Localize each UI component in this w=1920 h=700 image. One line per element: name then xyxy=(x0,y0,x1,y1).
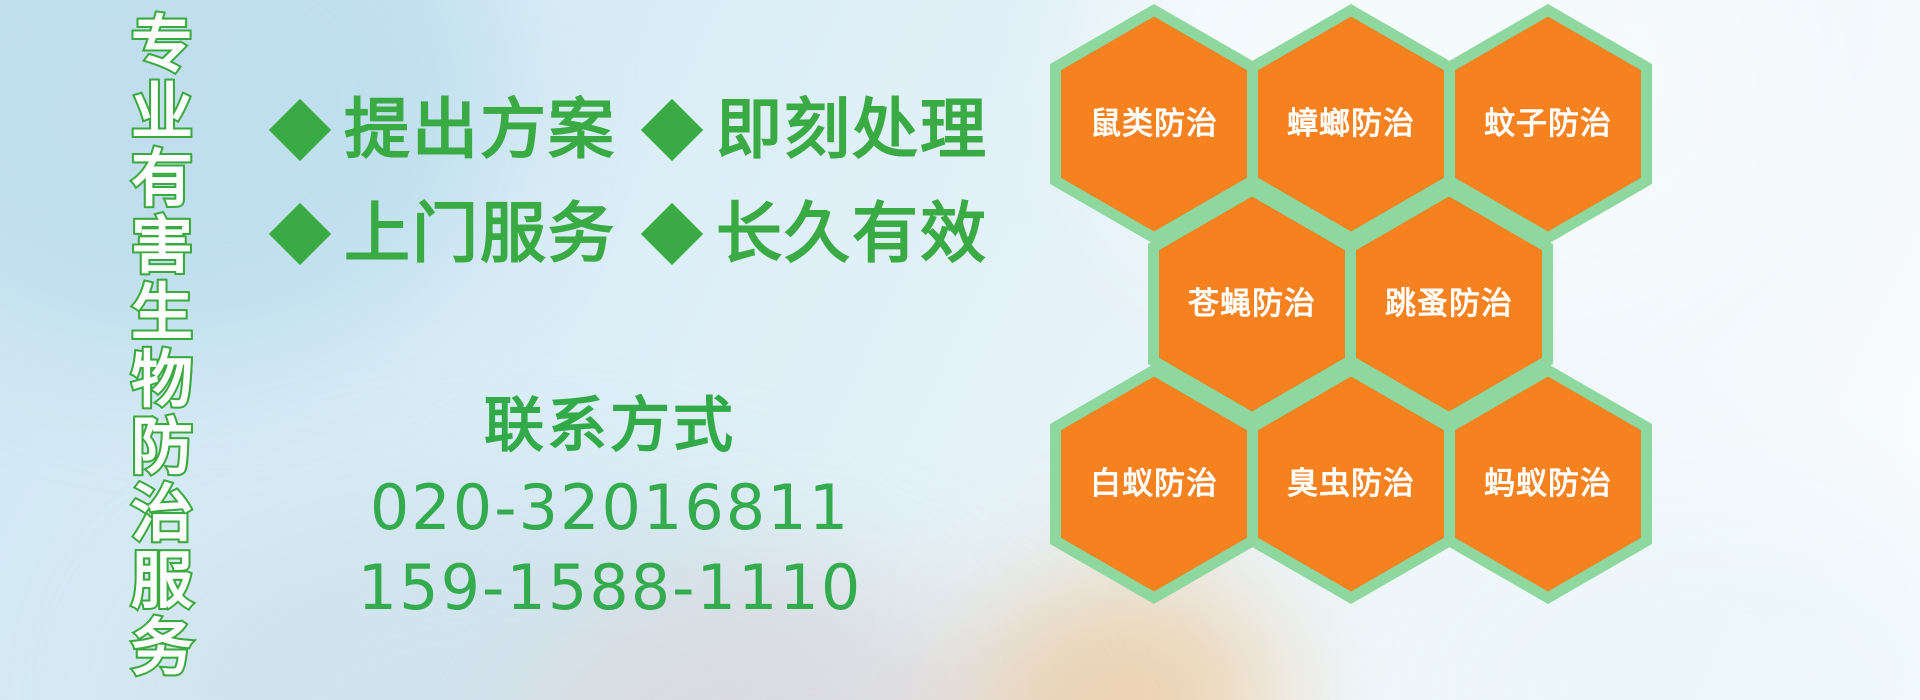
service-label: 苍蝇防治 xyxy=(1188,287,1316,321)
service-honeycomb-grid: 鼠类防治 蟑螂防治 蚊子防治 苍蝇防治 跳蚤防治 白蚁防治 xyxy=(1050,0,1610,660)
hexagon-inner: 跳蚤防治 xyxy=(1356,197,1542,412)
feature-item-long-lasting: 长久有效 xyxy=(650,201,988,267)
service-label: 蚊子防治 xyxy=(1484,107,1612,141)
contact-title: 联系方式 xyxy=(330,390,890,462)
hexagon-inner: 白蚁防治 xyxy=(1061,377,1247,592)
service-label: 蟑螂防治 xyxy=(1287,107,1415,141)
feature-label: 提出方案 xyxy=(344,97,616,163)
hexagon-inner: 臭虫防治 xyxy=(1258,377,1444,592)
pest-control-service-banner: 专 业 有 害 生 物 防 治 服 务 提出方案 即刻处理 上门服务 xyxy=(0,0,1920,700)
hexagon-inner: 蚊子防治 xyxy=(1455,17,1641,232)
feature-row: 上门服务 长久有效 xyxy=(278,182,988,286)
vertical-slogan-char: 生 xyxy=(131,282,193,344)
vertical-slogan-char: 业 xyxy=(131,81,193,143)
vertical-slogan-char: 物 xyxy=(131,349,193,411)
vertical-slogan-char: 专 xyxy=(131,14,193,76)
service-label: 鼠类防治 xyxy=(1090,107,1218,141)
diamond-icon xyxy=(641,203,703,265)
service-label: 蚂蚁防治 xyxy=(1484,467,1612,501)
vertical-slogan-char: 服 xyxy=(131,550,193,612)
feature-label: 即刻处理 xyxy=(716,97,988,163)
hexagon-inner: 蚂蚁防治 xyxy=(1455,377,1641,592)
contact-block: 联系方式 020-32016811 159-1588-1110 xyxy=(330,390,890,628)
feature-list: 提出方案 即刻处理 上门服务 长久有效 xyxy=(278,78,988,286)
contact-phone-mobile[interactable]: 159-1588-1110 xyxy=(330,548,890,628)
feature-item-onsite-service: 上门服务 xyxy=(278,201,616,267)
diamond-icon xyxy=(269,99,331,161)
feature-item-immediate-handling: 即刻处理 xyxy=(650,97,988,163)
vertical-slogan-char: 务 xyxy=(131,617,193,679)
contact-phone-landline[interactable]: 020-32016811 xyxy=(330,468,890,548)
vertical-slogan-char: 有 xyxy=(131,148,193,210)
hexagon-inner: 苍蝇防治 xyxy=(1159,197,1345,412)
vertical-slogan-char: 防 xyxy=(131,416,193,478)
service-label: 白蚁防治 xyxy=(1090,467,1218,501)
feature-label: 长久有效 xyxy=(716,201,988,267)
hexagon-inner: 蟑螂防治 xyxy=(1258,17,1444,232)
feature-item-propose-plan: 提出方案 xyxy=(278,97,616,163)
vertical-slogan-char: 害 xyxy=(131,215,193,277)
service-label: 跳蚤防治 xyxy=(1385,287,1513,321)
vertical-slogan-char: 治 xyxy=(131,483,193,545)
diamond-icon xyxy=(641,99,703,161)
vertical-slogan: 专 业 有 害 生 物 防 治 服 务 xyxy=(108,14,216,684)
feature-row: 提出方案 即刻处理 xyxy=(278,78,988,182)
diamond-icon xyxy=(269,203,331,265)
feature-label: 上门服务 xyxy=(344,201,616,267)
hexagon-inner: 鼠类防治 xyxy=(1061,17,1247,232)
service-label: 臭虫防治 xyxy=(1287,467,1415,501)
